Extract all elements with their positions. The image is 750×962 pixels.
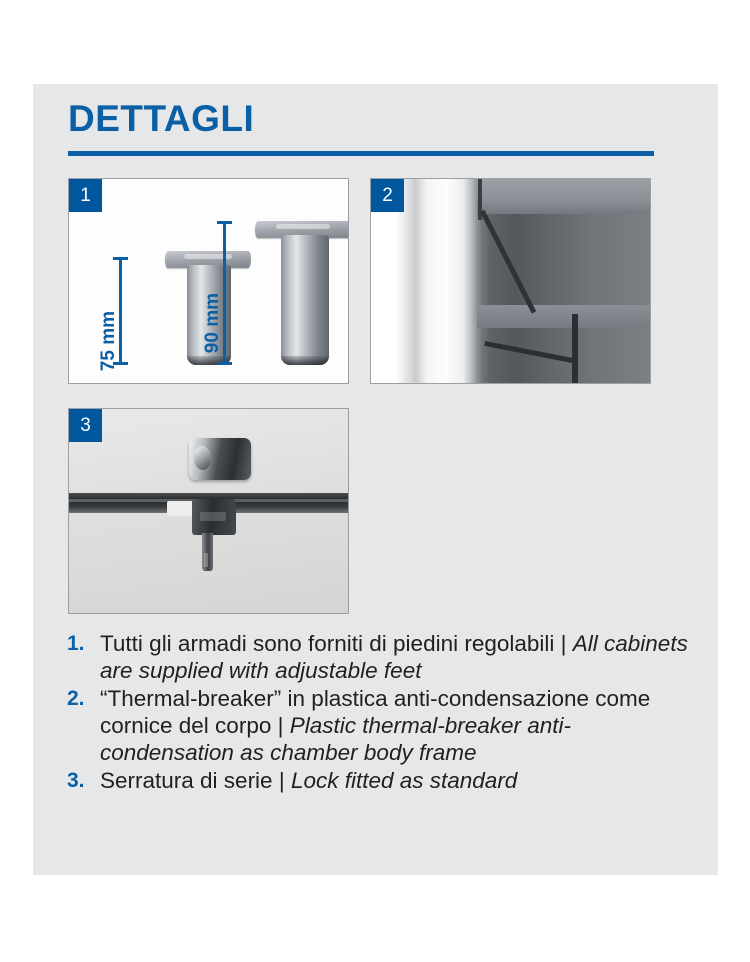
figure-badge-1: 1 bbox=[69, 179, 102, 212]
list-item: 2. “Thermal-breaker” in plastica anti-co… bbox=[56, 685, 701, 766]
lock-barrel-icon bbox=[189, 438, 251, 480]
list-item-number: 1. bbox=[67, 630, 85, 657]
list-item-separator: | bbox=[271, 713, 289, 738]
cabinet-ceiling bbox=[477, 179, 650, 214]
figure-adjustable-feet: 75 mm 90 mm 1 bbox=[68, 178, 349, 384]
details-panel: DETTAGLI 75 mm bbox=[33, 84, 718, 875]
cabinet-shelf bbox=[477, 305, 650, 327]
key-icon bbox=[202, 533, 213, 571]
list-item-text-it: Tutti gli armadi sono forniti di piedini… bbox=[100, 631, 554, 656]
figure-lock: 3 bbox=[68, 408, 349, 614]
list-item-text-en: Lock fitted as standard bbox=[291, 768, 517, 793]
list-item-number: 3. bbox=[67, 767, 85, 794]
cabinet-diagonal-strut bbox=[480, 209, 536, 313]
cabinet-rail bbox=[484, 340, 578, 363]
list-item-text-it: Serratura di serie bbox=[100, 768, 273, 793]
feet-illustration: 75 mm 90 mm bbox=[69, 179, 348, 383]
list-item-number: 2. bbox=[67, 685, 85, 712]
list-item-separator: | bbox=[554, 631, 572, 656]
cabinet-post bbox=[572, 314, 578, 383]
page-title: DETTAGLI bbox=[68, 100, 254, 137]
figure-thermal-breaker: 2 bbox=[370, 178, 651, 384]
details-list: 1. Tutti gli armadi sono forniti di pied… bbox=[56, 630, 701, 795]
figure-badge-3: 3 bbox=[69, 409, 102, 442]
foot-tube bbox=[281, 235, 329, 365]
lock-collar bbox=[192, 499, 236, 535]
dimension-label-90mm: 90 mm bbox=[202, 293, 224, 353]
list-item: 3. Serratura di serie | Lock fitted as s… bbox=[56, 767, 701, 794]
dimension-cap-bottom-icon bbox=[217, 362, 232, 365]
lock-photo bbox=[69, 409, 348, 613]
list-item-separator: | bbox=[273, 768, 291, 793]
dimension-label-75mm: 75 mm bbox=[98, 311, 120, 371]
list-item: 1. Tutti gli armadi sono forniti di pied… bbox=[56, 630, 701, 684]
figure-badge-2: 2 bbox=[371, 179, 404, 212]
thermal-breaker-photo bbox=[371, 179, 650, 383]
title-underline-rule bbox=[68, 151, 654, 156]
